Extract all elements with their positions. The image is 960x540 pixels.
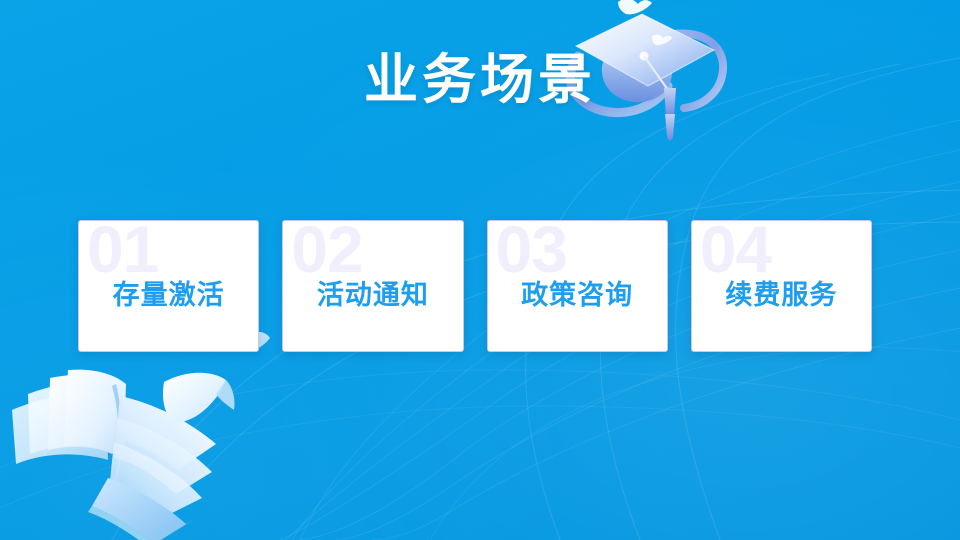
slide-canvas: 业务场景 [0,0,960,540]
card-number: 03 [496,220,567,284]
card-label: 活动通知 [283,279,462,311]
card-label: 续费服务 [692,279,871,311]
page-title: 业务场景 [0,52,960,109]
scenario-card-1[interactable]: 01 存量激活 [78,220,259,352]
card-number: 04 [700,220,771,284]
card-number: 02 [291,220,362,284]
scenario-card-2[interactable]: 02 活动通知 [282,220,463,352]
scenario-card-4[interactable]: 04 续费服务 [691,220,872,352]
card-label: 政策咨询 [488,279,667,311]
card-label: 存量激活 [79,279,258,311]
card-number: 01 [87,220,158,284]
scenario-card-list: 01 存量激活 02 活动通知 03 政策咨询 04 续费服务 [78,220,872,350]
open-book-icon [0,348,288,540]
scenario-card-3[interactable]: 03 政策咨询 [487,220,668,352]
